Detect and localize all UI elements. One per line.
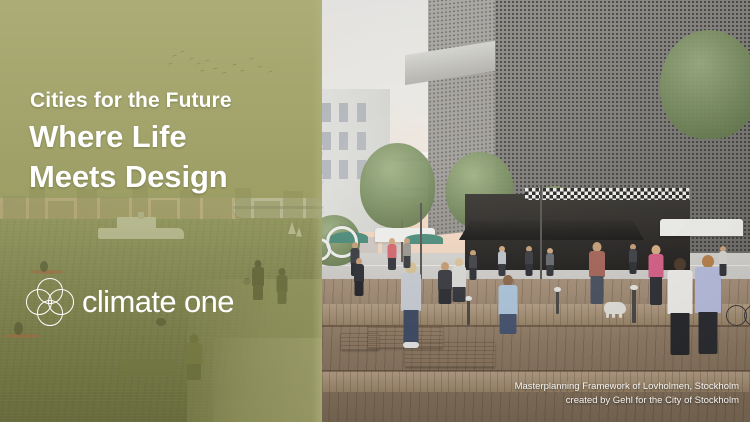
panel-edge-fade xyxy=(312,0,322,422)
caption-line-2: created by Gehl for the City of Stockhol… xyxy=(515,394,739,408)
eyebrow-title: Cities for the Future xyxy=(30,90,232,111)
image-credit-caption: Masterplanning Framework of Lovholmen, S… xyxy=(515,380,739,408)
duotone-gradient-layer xyxy=(0,0,322,422)
headline-line-1: Where Life xyxy=(29,121,186,152)
slide-canvas: Cities for the Future Where Life Meets D… xyxy=(0,0,750,422)
logo-wordmark: climate one xyxy=(82,286,234,317)
climate-one-logo: climate one xyxy=(26,278,234,324)
caption-line-1: Masterplanning Framework of Lovholmen, S… xyxy=(515,380,739,394)
duotone-waterfront-photo xyxy=(0,0,322,422)
quatrefoil-mark-icon xyxy=(26,278,72,324)
headline-line-2: Meets Design xyxy=(29,161,228,192)
